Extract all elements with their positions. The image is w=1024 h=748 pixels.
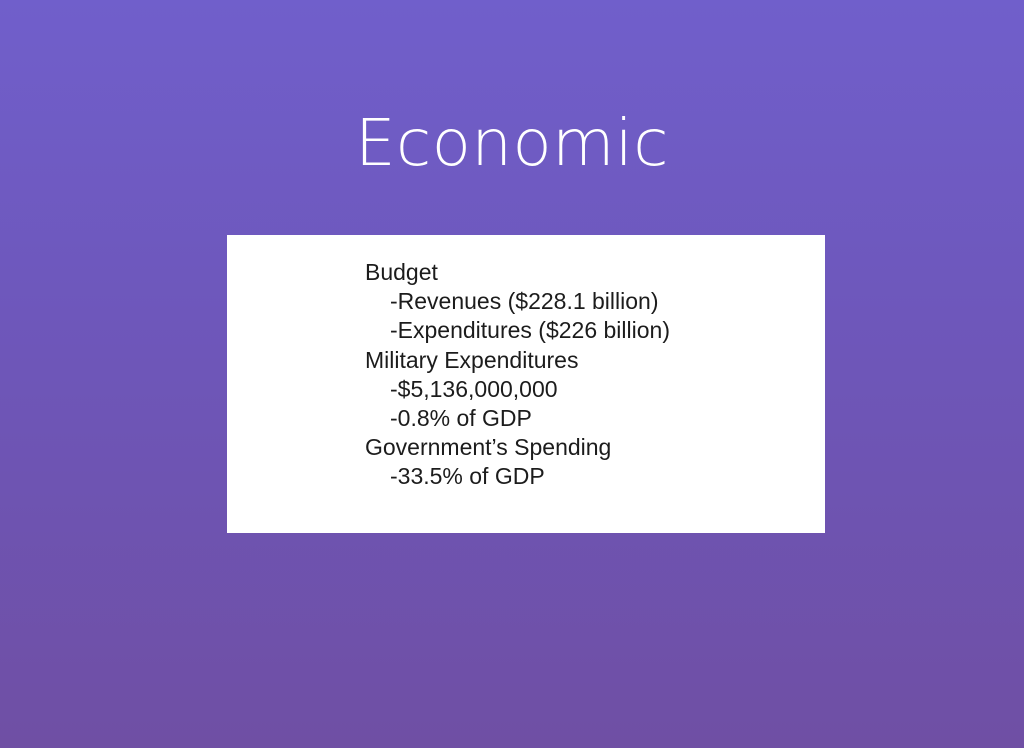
- list-item: -Revenues ($228.1 billion): [365, 287, 670, 316]
- list-item: Military Expenditures: [365, 346, 670, 375]
- list-item: Budget: [365, 258, 670, 287]
- presentation-slide: Economic Budget-Revenues ($228.1 billion…: [0, 0, 1024, 748]
- list-item: -0.8% of GDP: [365, 404, 670, 433]
- page-title: Economic: [0, 105, 1024, 183]
- list-item: Government’s Spending: [365, 433, 670, 462]
- content-card: Budget-Revenues ($228.1 billion)-Expendi…: [227, 235, 825, 533]
- list-item: -33.5% of GDP: [365, 462, 670, 491]
- list-item: -Expenditures ($226 billion): [365, 316, 670, 345]
- content-bullet-list: Budget-Revenues ($228.1 billion)-Expendi…: [365, 258, 670, 492]
- list-item: -$5,136,000,000: [365, 375, 670, 404]
